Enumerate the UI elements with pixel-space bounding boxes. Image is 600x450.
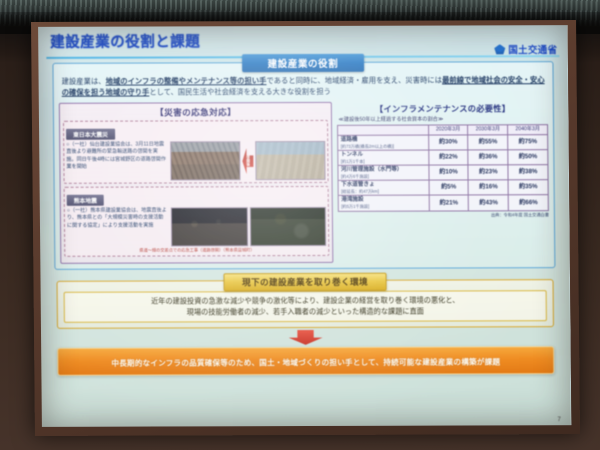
case-photos <box>171 207 327 247</box>
down-arrow-icon <box>288 330 322 345</box>
case-body: ○（一社）仙台建設業協会は、3月11日地震直後より避難所の緊急輸送路の啓開を実施… <box>66 141 326 181</box>
cell-value: 約5% <box>429 180 469 195</box>
role-section: 建設産業の役割 建設産業は、地域のインフラの整備やメンテナンス等の担い手であると… <box>52 61 555 270</box>
role-text-part1: 建設産業は、 <box>62 77 106 86</box>
presentation-slide: 建設産業の役割と課題 国土交通省 建設産業の役割 建設産業は、地域のインフラの整… <box>38 25 571 427</box>
table-row: 下水道管きょ [総延長：約47万km] 約5% 約16% 約35% <box>339 180 549 196</box>
photo-before <box>170 141 241 180</box>
photo-debris-removal <box>250 207 327 246</box>
page-number: 7 <box>558 417 561 423</box>
projection-screen: 建設産業の役割と課題 国土交通省 建設産業の役割 建設産業は、地域のインフラの整… <box>38 25 571 427</box>
cell-value: 約22% <box>428 150 468 165</box>
row-label: 下水道管きょ [総延長：約47万km] <box>339 180 429 196</box>
cell-value: 約23% <box>468 165 508 180</box>
ministry-branding: 国土交通省 <box>494 42 557 56</box>
cell-value: 約36% <box>468 150 508 165</box>
cell-value: 約50% <box>508 149 548 164</box>
infra-heading: 【インフラメンテナンスの必要性】 <box>337 102 548 115</box>
mlit-logo-icon <box>494 44 505 54</box>
cell-value: 約30% <box>428 134 468 149</box>
disaster-column: 【災害の応急対応】 東日本大震災 ○（一社）仙台建設業協会は、3月11日地震直後… <box>59 102 334 264</box>
case-body: ○（一社）熊本県建設業協会は、地震直後より、熊本県との「大規模災害時の支援活動に… <box>67 207 327 247</box>
case-photos: 啓開後 <box>170 141 326 181</box>
conclusion-bar: 中長期的なインフラの品質確保等のため、国土・地域づくりの担い手として、持続可能な… <box>57 346 554 376</box>
cell-value: 約43% <box>469 195 509 210</box>
role-banner: 建設産業の役割 <box>241 54 364 72</box>
ministry-name: 国土交通省 <box>508 42 557 56</box>
slide-title-bar: 建設産業の役割と課題 国土交通省 <box>44 29 561 57</box>
infra-subheading: ≪建設後50年以上経過する社会資本の割合≫ <box>338 115 548 123</box>
case-tag: 熊本地震 <box>67 195 104 206</box>
disaster-panel: 【災害の応急対応】 東日本大震災 ○（一社）仙台建設業協会は、3月11日地震直後… <box>59 102 334 264</box>
row-sub: [総延長：約47万km] <box>341 189 426 195</box>
role-text-part2: であると同時に、地域経済・雇用を支え、災害時には <box>266 76 442 86</box>
environment-line2: 現場の技能労働者の減少、若手入職者の減少といった構造的な課題に直面 <box>70 306 541 319</box>
disaster-case-tohoku: 東日本大震災 ○（一社）仙台建設業協会は、3月11日地震直後より避難所の緊急輸送… <box>63 120 329 184</box>
row-sub: [約1万1千本] <box>341 158 426 164</box>
page-title: 建設産業の役割と課題 <box>50 29 561 55</box>
table-row: トンネル [約1万1千本] 約22% 約36% 約50% <box>338 149 548 165</box>
environment-text-box: 近年の建設投資の急激な減少や競争の激化等により、建設企業の経営を取り巻く環境の悪… <box>64 290 547 323</box>
cell-value: 約21% <box>429 195 469 210</box>
table-source-note: 出典：令和4年度 国土交通白書 <box>338 212 549 219</box>
col-header-2040: 2040年3月 <box>508 125 548 134</box>
table-row: 港湾施設 [約5万1千施設] 約21% 約43% 約66% <box>339 195 549 211</box>
row-sub: [約4万6千施設] <box>341 174 426 180</box>
cell-value: 約35% <box>508 180 548 195</box>
photo-after <box>256 141 327 180</box>
cell-value: 約66% <box>508 195 548 210</box>
infra-column: 【インフラメンテナンスの必要性】 ≪建設後50年以上経過する社会資本の割合≫ 2… <box>337 101 549 262</box>
arrow-label: 啓開後 <box>243 148 254 174</box>
col-header-2020: 2020年3月 <box>428 125 468 134</box>
role-body-text: 建設産業は、地域のインフラの整備やメンテナンス等の担い手であると同時に、地域経済… <box>59 73 548 101</box>
environment-section: 現下の建設産業を取り巻く環境 近年の建設投資の急激な減少や競争の激化等により、建… <box>57 279 554 329</box>
cell-value: 約75% <box>508 134 548 149</box>
case-note: ○（一社）熊本県建設業協会は、地震直後より、熊本県との「大規模災害時の支援活動に… <box>67 208 168 230</box>
environment-banner: 現下の建設産業を取り巻く環境 <box>223 273 387 292</box>
photo-caption-left: 県道～線の交差点での応急工事（道路啓開）（熊本県益城町） <box>67 247 327 254</box>
role-text-part3: として、国民生活や社会経済を支える大きな役割を担う <box>149 86 331 96</box>
row-sub: [約73万橋(橋長2m以上の橋)] <box>341 143 426 149</box>
infra-table: 2020年3月 2030年3月 2040年3月 道路橋 [約73万橋(橋長2m以… <box>338 124 549 211</box>
content-columns: 【災害の応急対応】 東日本大震災 ○（一社）仙台建設業協会は、3月11日地震直後… <box>59 101 550 263</box>
row-label: 港湾施設 [約5万1千施設] <box>339 196 429 212</box>
photo-night-roadwork <box>171 207 248 246</box>
cell-value: 約10% <box>429 165 469 180</box>
right-arrow-icon: 啓開後 <box>243 148 254 174</box>
case-note: ○（一社）仙台建設業協会は、3月11日地震直後より避難所の緊急輸送路の啓開を実施… <box>66 142 167 171</box>
col-header-2030: 2030年3月 <box>468 125 508 134</box>
row-label: トンネル [約1万1千本] <box>338 150 428 166</box>
row-sub: [約5万1千施設] <box>341 204 426 210</box>
cell-value: 約16% <box>468 180 508 195</box>
conclusion-text: 中長期的なインフラの品質確保等のため、国土・地域づくりの担い手として、持続可能な… <box>111 357 500 367</box>
table-row: 道路橋 [約73万橋(橋長2m以上の橋)] 約30% 約55% 約75% <box>338 134 548 150</box>
col-header-blank <box>338 125 428 135</box>
disaster-heading: 【災害の応急対応】 <box>63 106 329 119</box>
cell-value: 約55% <box>468 134 508 149</box>
disaster-case-kumamoto: 熊本地震 ○（一社）熊本県建設業協会は、地震直後より、熊本県との「大規模災害時の… <box>64 186 330 257</box>
row-label: 道路橋 [約73万橋(橋長2m以上の橋)] <box>338 135 428 151</box>
cell-value: 約38% <box>508 165 548 180</box>
row-label: 河川管理施設（水門等） [約4万6千施設] <box>338 165 428 181</box>
case-tag: 東日本大震災 <box>66 129 115 140</box>
role-text-underline1: 地域のインフラの整備やメンテナンス等の担い手 <box>106 76 267 86</box>
table-row: 河川管理施設（水門等） [約4万6千施設] 約10% 約23% 約38% <box>338 165 548 181</box>
